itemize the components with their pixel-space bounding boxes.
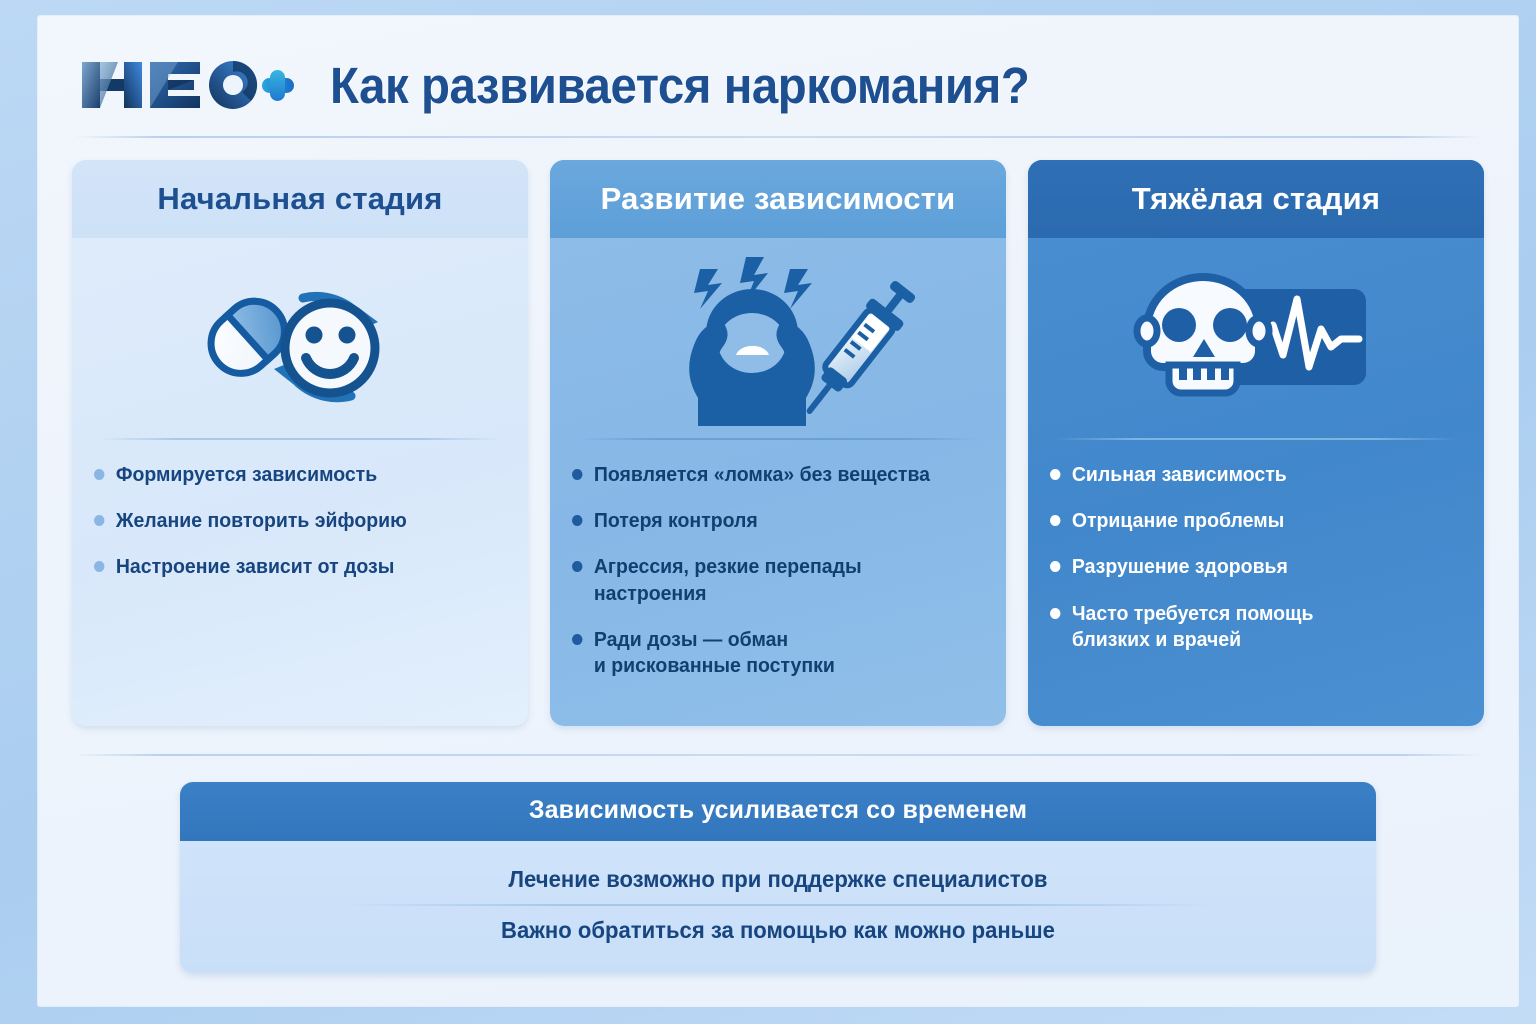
stage-card-initial[interactable]: Начальная стадия <box>72 160 528 726</box>
banner-body: Лечение возможно при поддержке специалис… <box>180 841 1376 973</box>
poster-header: Как развивается наркомания? <box>72 42 1484 128</box>
bullet-dot-icon <box>94 515 104 526</box>
stage-bullet-list: Формируется зависимость Желание повторит… <box>72 440 528 726</box>
stage-card-title: Развитие зависимости <box>550 160 1006 238</box>
skull-ecg-icon <box>1028 238 1484 438</box>
banner-inner-divider <box>340 904 1216 906</box>
stage-card-body: Появляется «ломка» без вещества Потеря к… <box>550 238 1006 726</box>
page-title: Как развивается наркомания? <box>330 56 1029 115</box>
bullet-text: Ради дозы — обман и рискованные поступки <box>594 627 835 679</box>
bullet-dot-icon <box>572 634 582 645</box>
bullet-dot-icon <box>572 469 582 480</box>
banner-headline: Зависимость усиливается со временем <box>180 782 1376 841</box>
poster-page: Как развивается наркомания? Начальная ст… <box>38 16 1518 1006</box>
list-item: Потеря контроля <box>572 508 965 534</box>
stages-row: Начальная стадия <box>72 160 1484 726</box>
bullet-dot-icon <box>94 469 104 480</box>
bullet-dot-icon <box>1050 515 1060 526</box>
list-item: Сильная зависимость <box>1050 462 1443 488</box>
bullet-dot-icon <box>1050 608 1060 619</box>
bullet-text: Появляется «ломка» без вещества <box>594 462 930 488</box>
bullet-text: Сильная зависимость <box>1072 462 1287 488</box>
bullet-dot-icon <box>1050 469 1060 480</box>
list-item: Появляется «ломка» без вещества <box>572 462 965 488</box>
list-item: Настроение зависит от дозы <box>94 554 487 580</box>
list-item: Агрессия, резкие перепады настроения <box>572 554 965 606</box>
list-item: Формируется зависимость <box>94 462 487 488</box>
list-item: Отрицание проблемы <box>1050 508 1443 534</box>
stage-card-body: Формируется зависимость Желание повторит… <box>72 238 528 726</box>
bullet-text: Потеря контроля <box>594 508 758 534</box>
neo-plus-logo <box>78 54 296 116</box>
stage-card-development[interactable]: Развитие зависимости <box>550 160 1006 726</box>
infographic-poster: Как развивается наркомания? Начальная ст… <box>0 0 1536 1024</box>
bullet-text: Отрицание проблемы <box>1072 508 1284 534</box>
header-divider <box>74 136 1482 138</box>
bottom-divider <box>74 754 1482 756</box>
bullet-text: Часто требуется помощь близких и врачей <box>1072 601 1314 653</box>
pill-smiley-cycle-icon <box>72 238 528 438</box>
bullet-text: Настроение зависит от дозы <box>116 554 394 580</box>
bullet-dot-icon <box>572 561 582 572</box>
stage-card-title: Тяжёлая стадия <box>1028 160 1484 238</box>
stage-card-severe[interactable]: Тяжёлая стадия <box>1028 160 1484 726</box>
stage-card-title: Начальная стадия <box>72 160 528 238</box>
list-item: Ради дозы — обман и рискованные поступки <box>572 627 965 679</box>
banner-line-urgency: Важно обратиться за помощью как можно ра… <box>214 908 1343 953</box>
list-item: Желание повторить эйфорию <box>94 508 487 534</box>
bullet-text: Желание повторить эйфорию <box>116 508 407 534</box>
bullet-dot-icon <box>1050 561 1060 572</box>
bullet-dot-icon <box>572 515 582 526</box>
bullet-dot-icon <box>94 561 104 572</box>
stage-bullet-list: Появляется «ломка» без вещества Потеря к… <box>550 440 1006 726</box>
summary-banner: Зависимость усиливается со временем Лече… <box>180 782 1376 973</box>
banner-line-treatment: Лечение возможно при поддержке специалис… <box>214 857 1343 902</box>
stressed-person-syringe-icon <box>550 238 1006 438</box>
stage-card-body: Сильная зависимость Отрицание проблемы Р… <box>1028 238 1484 726</box>
list-item: Часто требуется помощь близких и врачей <box>1050 601 1443 653</box>
bullet-text: Агрессия, резкие перепады настроения <box>594 554 965 606</box>
stage-bullet-list: Сильная зависимость Отрицание проблемы Р… <box>1028 440 1484 726</box>
bullet-text: Формируется зависимость <box>116 462 377 488</box>
list-item: Разрушение здоровья <box>1050 554 1443 580</box>
bullet-text: Разрушение здоровья <box>1072 554 1288 580</box>
